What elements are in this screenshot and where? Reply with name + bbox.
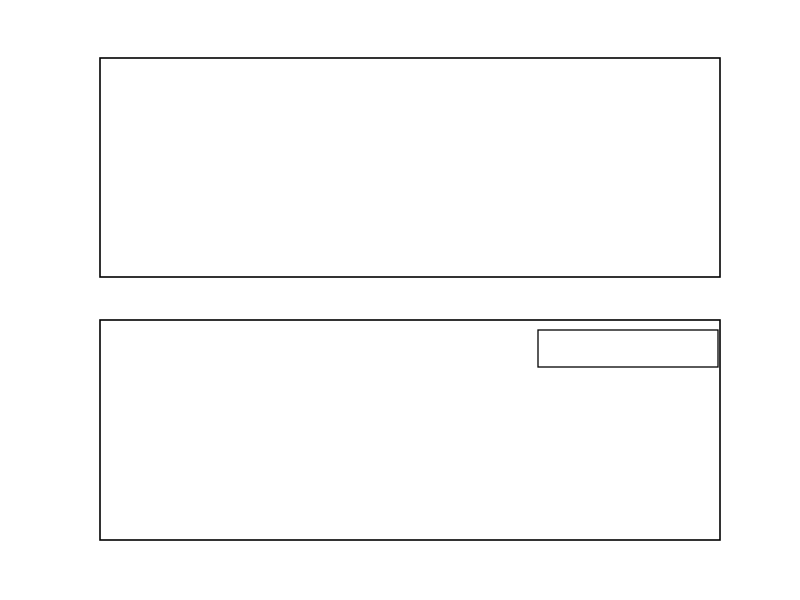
legend-frame [538,330,718,367]
top-panel-axes-frame [100,58,720,277]
cumulative-histogram-panel [0,0,720,540]
matplotlib-figure [0,0,800,600]
figure-canvas [0,0,800,600]
differential-histogram-panel [100,58,720,277]
legend[interactable] [538,330,718,367]
